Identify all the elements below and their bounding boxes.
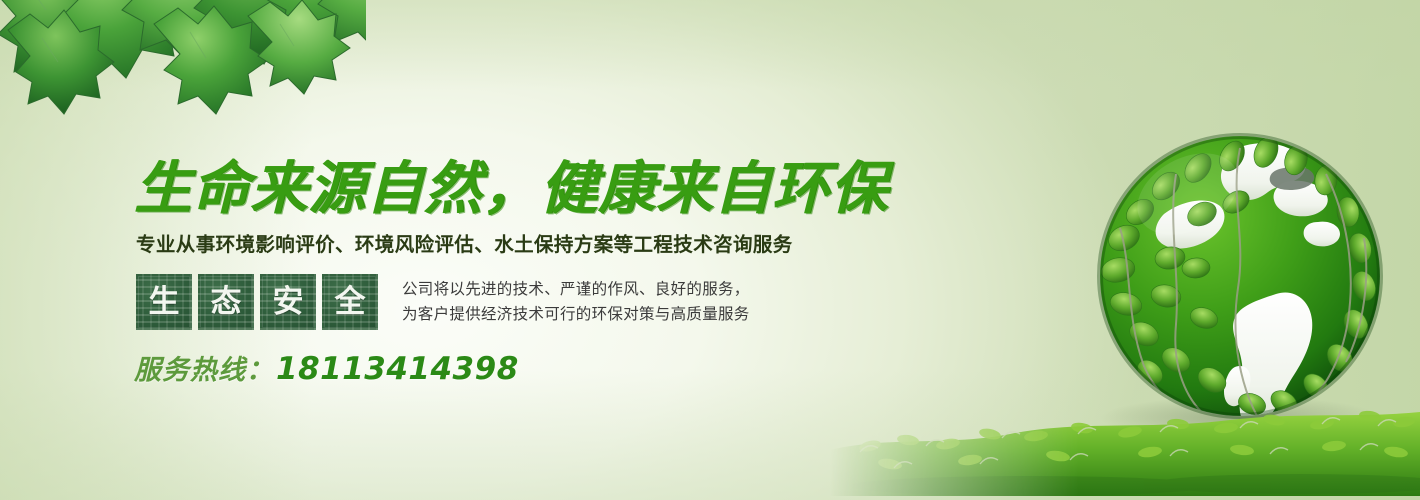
seal-badge-4: 全 (322, 274, 378, 330)
seal-badge-3: 安 (260, 274, 316, 330)
seal-badge-1: 生 (136, 274, 192, 330)
ivy-leaves-icon (0, 0, 366, 144)
banner-copy: 生命来源自然，健康来自环保 专业从事环境影响评价、环境风险评估、水土保持方案等工… (134, 158, 854, 387)
blurb-line-2: 为客户提供经济技术可行的环保对策与高质量服务 (402, 302, 750, 327)
grass-bed-icon (830, 406, 1420, 496)
blurb-line-1: 公司将以先进的技术、严谨的作风、良好的服务， (402, 277, 750, 302)
hotline-label: 服务热线： (134, 355, 274, 385)
seal-badge-2: 态 (198, 274, 254, 330)
eco-banner: 生命来源自然，健康来自环保 专业从事环境影响评价、环境风险评估、水土保持方案等工… (0, 0, 1420, 500)
banner-subtitle: 专业从事环境影响评价、环境风险评估、水土保持方案等工程技术咨询服务 (136, 233, 854, 257)
green-globe-icon (1080, 118, 1400, 448)
hotline-number[interactable]: 18113414398 (276, 351, 519, 387)
seals-and-blurb-row: 生 态 安 全 公司将以先进的技术、严谨的作风、良好的服务， 为客户提供经济技术… (134, 274, 854, 330)
service-hotline[interactable]: 服务热线：18113414398 (134, 348, 854, 387)
page-title: 生命来源自然，健康来自环保 (134, 158, 854, 220)
company-blurb: 公司将以先进的技术、严谨的作风、良好的服务， 为客户提供经济技术可行的环保对策与… (402, 274, 750, 327)
seal-badges: 生 态 安 全 (136, 274, 378, 330)
